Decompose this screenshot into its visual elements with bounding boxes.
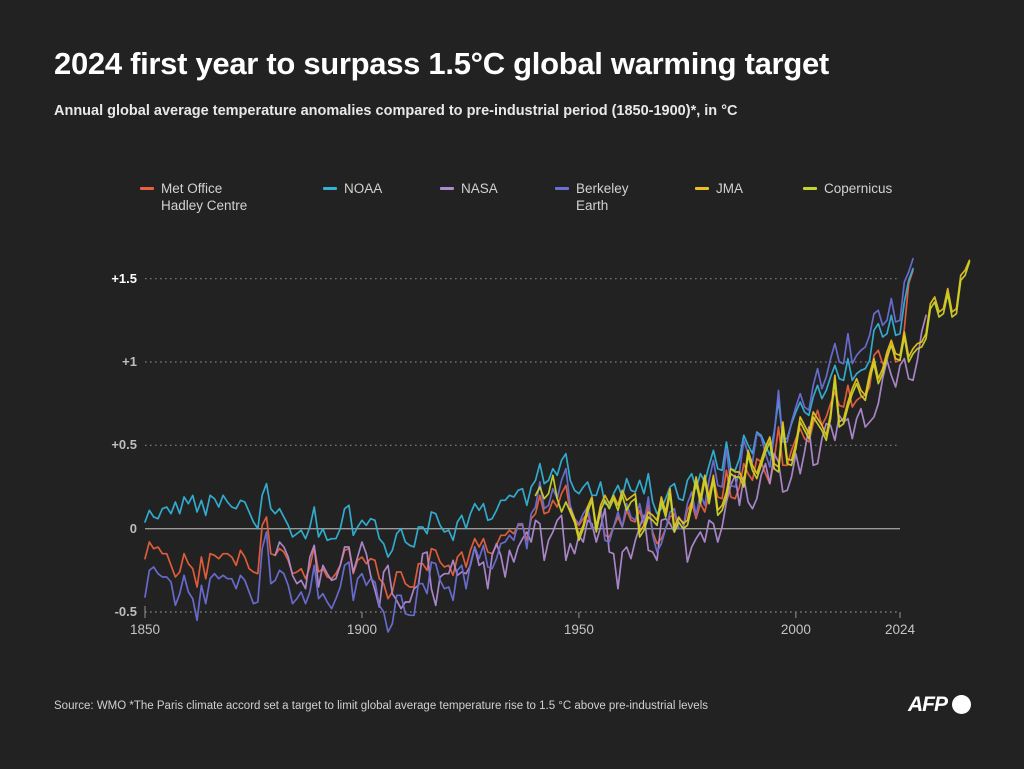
legend-item-0[interactable]: Met Office Hadley Centre (140, 180, 247, 214)
afp-logo-text: AFP (908, 694, 947, 715)
series-line-1 (145, 269, 913, 557)
page-title: 2024 first year to surpass 1.5°C global … (54, 46, 829, 82)
x-axis-tick-label: 1950 (539, 622, 619, 637)
y-axis-tick-label: -0.5 (115, 604, 137, 619)
page-subtitle: Annual global average temperature anomal… (54, 103, 737, 119)
series-line-4 (570, 260, 969, 535)
legend-swatch-icon (440, 187, 454, 190)
series-line-2 (275, 315, 926, 608)
legend-swatch-icon (695, 187, 709, 190)
source-note: Source: WMO *The Paris climate accord se… (54, 700, 708, 712)
legend-swatch-icon (555, 187, 569, 190)
line-chart-plot (145, 262, 900, 612)
y-axis-tick-label: +1.5 (111, 271, 137, 286)
y-axis-tick-label: +0.5 (111, 437, 137, 452)
legend-item-label: JMA (716, 180, 743, 197)
legend-swatch-icon (140, 187, 154, 190)
afp-logo-dot (952, 695, 971, 714)
legend-item-1[interactable]: NOAA (323, 180, 382, 197)
x-axis-tick-label: 2000 (756, 622, 836, 637)
legend-item-5[interactable]: Copernicus (803, 180, 892, 197)
y-axis-tick-label: +1 (122, 354, 137, 369)
legend-swatch-icon (323, 187, 337, 190)
legend-item-label: Copernicus (824, 180, 892, 197)
chart-svg (145, 262, 900, 612)
legend-item-3[interactable]: Berkeley Earth (555, 180, 629, 214)
legend-item-2[interactable]: NASA (440, 180, 498, 197)
legend-item-label: Met Office Hadley Centre (161, 180, 247, 214)
legend-item-label: Berkeley Earth (576, 180, 629, 214)
y-axis-tick-label: 0 (130, 521, 137, 536)
chart-legend: Met Office Hadley CentreNOAANASABerkeley… (140, 180, 940, 226)
x-axis-tick-label: 2024 (860, 622, 940, 637)
legend-swatch-icon (803, 187, 817, 190)
legend-item-4[interactable]: JMA (695, 180, 743, 197)
infographic-root: 2024 first year to surpass 1.5°C global … (0, 0, 1024, 769)
legend-item-label: NASA (461, 180, 498, 197)
afp-logo: AFP (908, 694, 971, 715)
x-axis-tick-label: 1850 (105, 622, 185, 637)
legend-item-label: NOAA (344, 180, 382, 197)
